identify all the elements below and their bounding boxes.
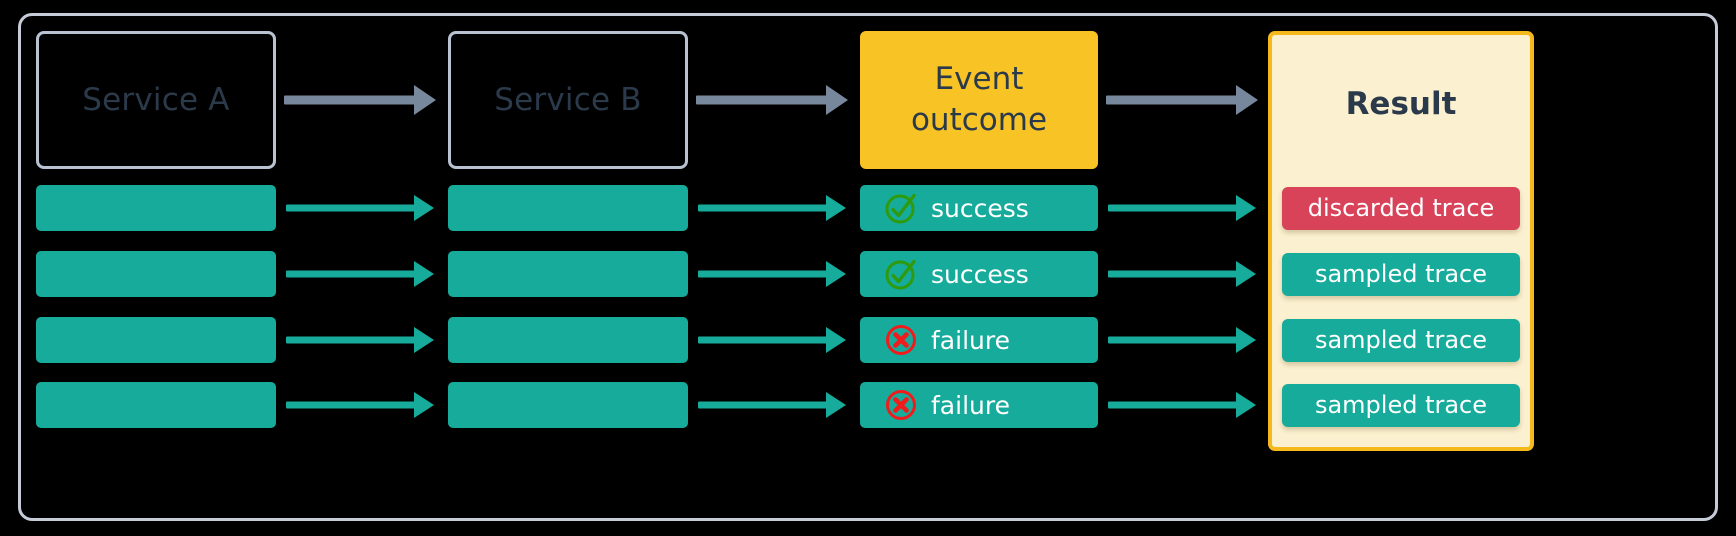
outcome-bar: failure: [860, 382, 1098, 428]
circle-x-icon: [884, 323, 918, 357]
result-badge-discarded: discarded trace: [1282, 187, 1520, 230]
circle-check-icon: [884, 191, 918, 225]
outcome-bar: success: [860, 185, 1098, 231]
result-title: Result: [1272, 35, 1530, 173]
event-outcome-box: Event outcome: [860, 31, 1098, 169]
span-bar-service-a: [36, 382, 276, 428]
outcome-label: failure: [931, 391, 1010, 420]
span-bar-service-b: [448, 251, 688, 297]
result-badge-sampled: sampled trace: [1282, 253, 1520, 296]
service-a-label: Service A: [82, 83, 229, 117]
outcome-bar: failure: [860, 317, 1098, 363]
outcome-label: failure: [931, 326, 1010, 355]
service-a-box: Service A: [36, 31, 276, 169]
span-bar-service-b: [448, 317, 688, 363]
outcome-label: success: [931, 194, 1029, 223]
outcome-label: success: [931, 260, 1029, 289]
service-b-label: Service B: [494, 83, 642, 117]
span-bar-service-b: [448, 382, 688, 428]
result-badge-sampled: sampled trace: [1282, 384, 1520, 427]
circle-x-icon: [884, 388, 918, 422]
diagram-canvas: Service A Service B Event outcome Result…: [0, 0, 1736, 536]
span-bar-service-a: [36, 185, 276, 231]
circle-check-icon: [884, 257, 918, 291]
span-bar-service-b: [448, 185, 688, 231]
service-b-box: Service B: [448, 31, 688, 169]
result-badge-sampled: sampled trace: [1282, 319, 1520, 362]
span-bar-service-a: [36, 317, 276, 363]
event-outcome-label: Event outcome: [911, 59, 1047, 141]
outcome-bar: success: [860, 251, 1098, 297]
span-bar-service-a: [36, 251, 276, 297]
